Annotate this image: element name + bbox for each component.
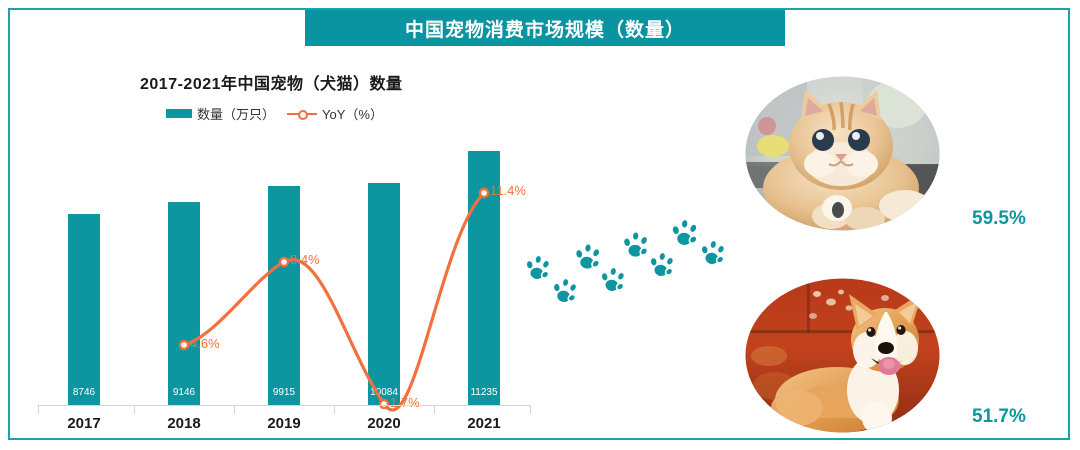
bar-value-2019: 9915 <box>262 387 306 398</box>
x-label-2020: 2020 <box>344 415 424 432</box>
paw-icon-6 <box>646 250 677 280</box>
x-label-2021: 2021 <box>444 415 524 432</box>
x-label-2019: 2019 <box>244 415 324 432</box>
poster-frame: 中国宠物消费市场规模（数量） 2017-2021年中国宠物（犬猫）数量 数量（万… <box>8 8 1070 440</box>
x-label-2018: 2018 <box>144 415 224 432</box>
paw-icon-2 <box>549 275 581 305</box>
bar-value-2021: 11235 <box>460 387 508 398</box>
yoy-label-2019: 8.4% <box>290 252 320 267</box>
cat-photo <box>745 76 940 231</box>
bar-2019 <box>268 186 300 405</box>
axis-tick-0 <box>38 405 39 414</box>
paw-print-trail <box>510 215 730 335</box>
x-label-2017: 2017 <box>44 415 124 432</box>
page-title: 中国宠物消费市场规模（数量） <box>405 15 685 42</box>
bar-2020 <box>368 183 400 405</box>
bar-2018 <box>168 202 200 405</box>
axis-tick-2 <box>234 405 235 414</box>
bar-2017 <box>68 214 100 405</box>
chart-panel: 2017-2021年中国宠物（犬猫）数量 数量（万只） YoY（%） 8746 … <box>10 46 540 442</box>
axis-tick-5 <box>530 405 531 414</box>
axis-tick-4 <box>434 405 435 414</box>
paw-icon-8 <box>697 238 728 268</box>
dog-photo <box>745 278 940 433</box>
axis-tick-3 <box>334 405 335 414</box>
paw-icon-3 <box>572 241 604 271</box>
bar-value-2018: 9146 <box>162 387 206 398</box>
cat-percent-label: 59.5% <box>972 208 1026 230</box>
yoy-line-path <box>184 193 484 410</box>
x-axis-line <box>38 405 530 406</box>
paw-icon-4 <box>597 265 628 295</box>
yoy-label-2020: 1.7% <box>390 395 420 410</box>
paw-icon-1 <box>522 253 553 283</box>
axis-tick-1 <box>134 405 135 414</box>
dog-percent-label: 51.7% <box>972 406 1026 428</box>
paw-icon-5 <box>620 230 651 259</box>
bar-value-2017: 8746 <box>62 387 106 398</box>
paw-icon-7 <box>669 217 701 247</box>
yoy-label-2018: 4.6% <box>190 336 220 351</box>
yoy-label-2021: 11.4% <box>490 183 526 198</box>
plot-area: 8746 9146 9915 10084 11235 4.6% 8.4% 1.7… <box>10 46 540 442</box>
header-banner: 中国宠物消费市场规模（数量） <box>305 10 785 46</box>
